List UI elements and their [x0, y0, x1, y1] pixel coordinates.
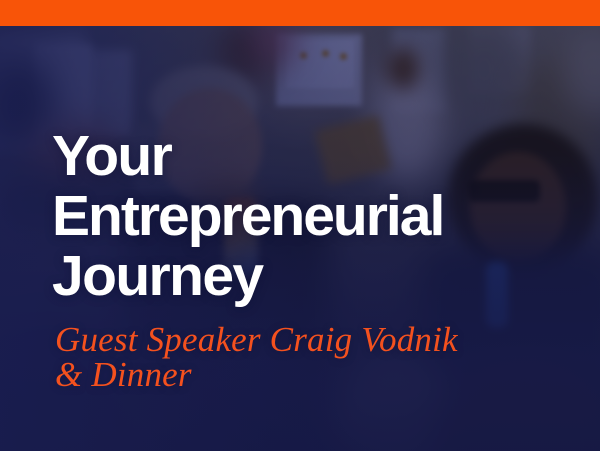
- headline-line-3: Journey: [52, 246, 592, 306]
- headline-line-1: Your: [52, 126, 592, 186]
- subtitle-line-2: & Dinner: [55, 357, 592, 392]
- subtitle: Guest Speaker Craig Vodnik & Dinner: [55, 322, 592, 392]
- top-accent-bar: [0, 0, 600, 26]
- subtitle-line-1: Guest Speaker Craig Vodnik: [55, 322, 592, 357]
- event-poster: Your Entrepreneurial Journey Guest Speak…: [0, 0, 600, 451]
- headline-line-2: Entrepreneurial: [52, 186, 592, 246]
- poster-copy: Your Entrepreneurial Journey Guest Speak…: [52, 126, 592, 392]
